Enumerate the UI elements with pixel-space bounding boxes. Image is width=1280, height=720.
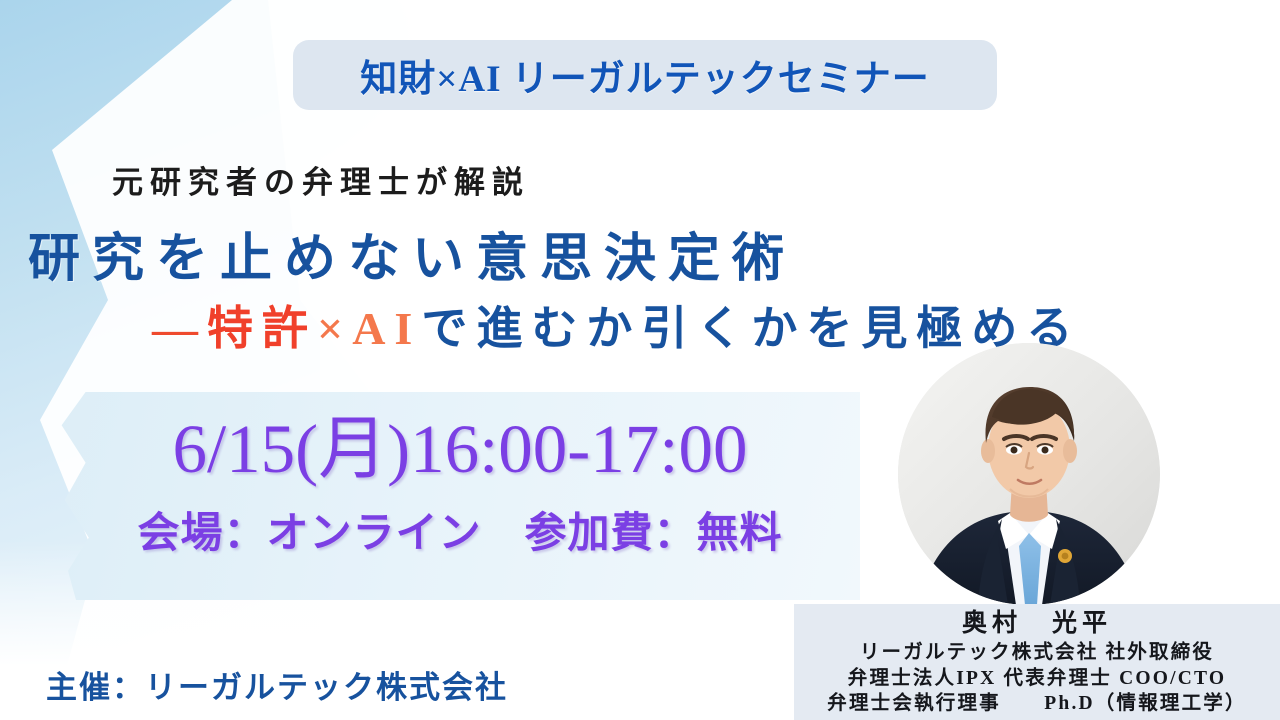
presenter-photo xyxy=(898,343,1160,605)
title-highlight-patent: 特許 xyxy=(207,303,317,354)
presenter-affiliation-1: リーガルテック株式会社 社外取締役 xyxy=(794,640,1280,666)
seminar-poster: 知財×AI リーガルテックセミナー 元研究者の弁理士が解説 研究を止めない意思決… xyxy=(0,0,1280,720)
presenter-affiliation-2: 弁理士法人IPX 代表弁理士 COO/CTO xyxy=(794,666,1280,692)
header-banner-title: 知財×AI リーガルテックセミナー xyxy=(360,48,929,102)
title-line-2-rest: で進むか引くかを見極める xyxy=(421,303,1081,354)
header-banner: 知財×AI リーガルテックセミナー xyxy=(293,40,997,110)
presenter-affiliation-3: 弁理士会執行理事 Ph.D（情報理工学） xyxy=(794,691,1280,717)
title-highlight-ai: ×AI xyxy=(317,303,421,354)
organizer-text: 主催：リーガルテック株式会社 xyxy=(46,662,508,707)
title-line-1: 研究を止めない意思決定術 xyxy=(28,216,796,291)
presenter-name: 奥村 光平 xyxy=(794,608,1280,640)
presenter-info-card: 奥村 光平 リーガルテック株式会社 社外取締役 弁理士法人IPX 代表弁理士 C… xyxy=(794,604,1280,720)
lead-text: 元研究者の弁理士が解説 xyxy=(112,157,530,202)
venue-fee-text: 会場：オンライン 参加費：無料 xyxy=(82,513,838,555)
presenter-portrait-illustration xyxy=(898,343,1160,605)
title-dash: — xyxy=(152,303,207,354)
date-time-text: 6/15(月)16:00-17:00 xyxy=(82,415,838,484)
title-line-2: —特許×AIで進むか引くかを見極める xyxy=(152,292,1081,358)
